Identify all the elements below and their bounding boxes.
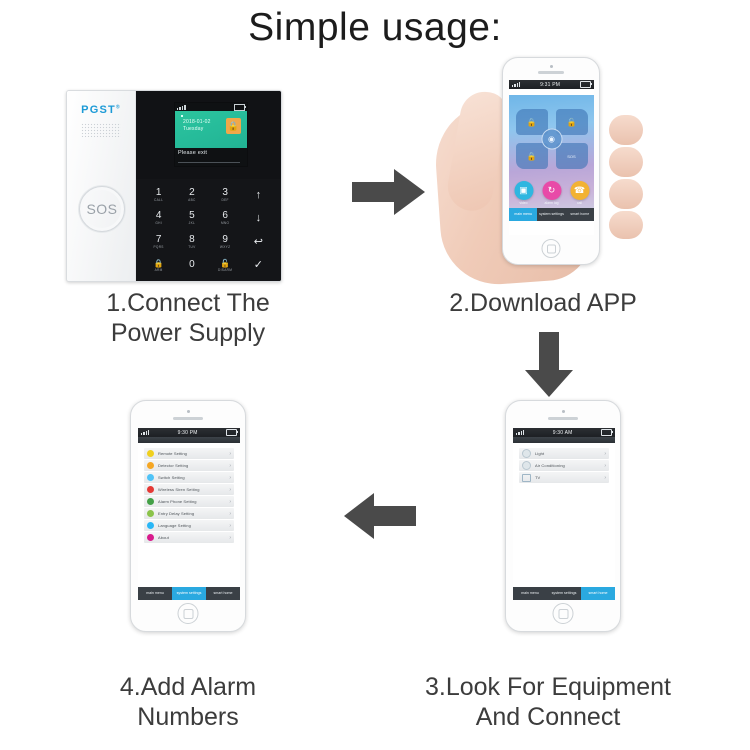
arrow-right-step1-to-step2 — [352, 167, 426, 217]
chevron-right-icon: › — [229, 463, 231, 469]
arrow-up-icon[interactable]: ↑ — [242, 183, 275, 207]
lcd-day: Tuesday — [183, 126, 203, 132]
siren-icon — [147, 486, 154, 493]
status-bar: 9:31 PM — [509, 80, 594, 89]
arrow-down-step2-to-step3 — [523, 332, 575, 398]
hand-finger-3 — [609, 179, 643, 209]
hand-finger-4 — [609, 211, 643, 239]
list-item[interactable]: Entry Delay Setting › — [144, 508, 234, 519]
step-2-caption: 2.Download APP — [378, 288, 708, 318]
list-item[interactable]: Air Conditioning › — [519, 460, 609, 471]
list-item-label: Detector Setting — [158, 463, 229, 468]
settings-list[interactable]: Remote Setting › Detector Setting › Swit… — [138, 443, 240, 586]
speaker-grille-icon — [81, 123, 121, 137]
status-time: 9:31 PM — [540, 82, 560, 88]
sos-button[interactable]: SOS — [79, 186, 125, 232]
lcd-message: Please exit — [178, 150, 207, 156]
list-item-label: Alarm Phone Setting — [158, 499, 229, 504]
key-5[interactable]: 5JKL — [175, 207, 208, 231]
brand-text: PGST — [81, 104, 116, 116]
status-bar: 9:30 PM — [138, 428, 240, 437]
battery-icon — [226, 429, 237, 436]
sos-button[interactable]: SOS — [556, 143, 588, 169]
phone-step4: 9:30 PM Remote Setting › Detector Settin… — [130, 400, 246, 632]
bottom-tabbar[interactable]: main menu system settings smart home — [513, 587, 615, 600]
list-item[interactable]: Switch Setting › — [144, 472, 234, 483]
key-0[interactable]: 0 — [175, 254, 208, 278]
key-4[interactable]: 4GHI — [142, 207, 175, 231]
disarm-button[interactable]: 🔓 — [556, 109, 588, 135]
call-action[interactable]: ☎ call — [570, 181, 589, 206]
earpiece-speaker — [538, 71, 564, 74]
globe-icon — [147, 522, 154, 529]
sos-label: SOS — [86, 201, 117, 217]
hand-holding-phone: 9:31 PM 🔒 🔓 🔒 SOS ◉ ▣ video — [430, 55, 645, 285]
hand-finger-1 — [609, 115, 643, 145]
home-button[interactable] — [542, 239, 561, 258]
list-item[interactable]: Wireless Siren Setting › — [144, 484, 234, 495]
chevron-right-icon: › — [604, 463, 606, 469]
disarm-unlock-icon[interactable]: 🔓DISARM — [209, 254, 242, 278]
battery-icon — [601, 429, 612, 436]
list-item-label: Language Setting — [158, 523, 229, 528]
video-icon: ▣ — [514, 181, 533, 200]
front-camera-icon — [187, 410, 190, 413]
tab-smart-home[interactable]: smart home — [566, 208, 594, 221]
chevron-right-icon: › — [604, 451, 606, 457]
detector-icon — [147, 462, 154, 469]
video-action[interactable]: ▣ video — [514, 181, 533, 206]
list-item-label: Air Conditioning — [535, 463, 604, 468]
list-item-label: Wireless Siren Setting — [158, 487, 229, 492]
phone-step2: 9:31 PM 🔒 🔓 🔒 SOS ◉ ▣ video — [502, 57, 600, 265]
lcd-body: 2018-01-02 Tuesday 🔒 — [175, 111, 247, 148]
battery-icon — [580, 81, 591, 88]
step-3-caption: 3.Look For Equipment And Connect — [378, 672, 718, 732]
bottom-tabbar[interactable]: main menu system settings smart home — [138, 587, 240, 600]
info-icon — [147, 534, 154, 541]
app-home-screen: 🔒 🔓 🔒 SOS ◉ ▣ video ↻ alarm log — [509, 95, 594, 221]
lcd-message-bar: Please exit — [175, 148, 247, 166]
earpiece-speaker — [173, 417, 203, 420]
bulb-icon — [522, 449, 531, 458]
key-3[interactable]: 3DEF — [209, 183, 242, 207]
page-title: Simple usage: — [0, 6, 750, 50]
chevron-right-icon: › — [229, 451, 231, 457]
home-button[interactable] — [553, 603, 574, 624]
phone-icon: ☎ — [570, 181, 589, 200]
key-7[interactable]: 7PQRS — [142, 230, 175, 254]
signal-icon — [512, 82, 520, 87]
signal-icon — [177, 105, 186, 110]
lcd-indicator-dot — [181, 115, 183, 117]
lcd-screen: 2018-01-02 Tuesday 🔒 Please exit — [174, 102, 248, 167]
phone-screen-step3: 9:30 AM Light › Air Conditioning › TV — [513, 428, 615, 600]
key-6[interactable]: 6MNO — [209, 207, 242, 231]
chevron-right-icon: › — [229, 475, 231, 481]
key-2[interactable]: 2ABC — [175, 183, 208, 207]
phone-screen-step2: 9:31 PM 🔒 🔓 🔒 SOS ◉ ▣ video — [509, 80, 594, 235]
brand-logo: PGST® — [67, 104, 135, 116]
clock-icon — [147, 510, 154, 517]
signal-icon — [141, 430, 149, 435]
earpiece-speaker — [548, 417, 578, 420]
bottom-tabbar[interactable]: main menu system settings smart home — [509, 208, 594, 221]
arm-control-pad[interactable]: 🔒 🔓 🔒 SOS ◉ — [516, 109, 588, 169]
list-item[interactable]: Light › — [519, 448, 609, 459]
tab-system-settings[interactable]: system settings — [537, 208, 565, 221]
list-item[interactable]: TV › — [519, 472, 609, 483]
shield-icon[interactable]: ◉ — [541, 129, 562, 150]
step-1-caption: 1.Connect The Power Supply — [38, 288, 338, 348]
list-item-label: Entry Delay Setting — [158, 511, 229, 516]
panel-front-right: 2018-01-02 Tuesday 🔒 Please exit 1CALL 2… — [136, 91, 281, 281]
back-icon[interactable]: ↩ — [242, 230, 275, 254]
list-item-label: TV — [535, 475, 604, 480]
arm-lock-icon[interactable]: 🔒ARM — [142, 254, 175, 278]
hand-finger-2 — [609, 147, 643, 177]
switch-icon — [147, 474, 154, 481]
phone-screen-step4: 9:30 PM Remote Setting › Detector Settin… — [138, 428, 240, 600]
alarm-panel-device: PGST® SOS 2018-01-02 Tuesday 🔒 — [66, 90, 282, 282]
tab-smart-home[interactable]: smart home — [206, 587, 240, 600]
phone-step3: 9:30 AM Light › Air Conditioning › TV — [505, 400, 621, 632]
call-label: call — [577, 201, 582, 205]
tab-system-settings[interactable]: system settings — [172, 587, 206, 600]
keypad[interactable]: 1CALL 2ABC 3DEF ↑ 4GHI 5JKL 6MNO ↓ 7PQRS… — [136, 179, 281, 281]
infographic-root: Simple usage: PGST® SOS 2018-01-02 — [0, 0, 750, 750]
list-item[interactable]: About › — [144, 532, 234, 543]
lcd-progress-line — [178, 162, 240, 163]
remote-icon — [147, 450, 154, 457]
step-4-caption: 4.Add Alarm Numbers — [38, 672, 338, 732]
chevron-right-icon: › — [229, 523, 231, 529]
quick-action-row[interactable]: ▣ video ↻ alarm log ☎ call — [514, 181, 589, 206]
lcd-statusbar — [175, 103, 247, 111]
tab-main-menu[interactable]: main menu — [513, 587, 547, 600]
front-camera-icon — [562, 410, 565, 413]
battery-icon — [234, 104, 245, 111]
phone-icon — [147, 498, 154, 505]
chevron-right-icon: › — [229, 499, 231, 505]
log-icon: ↻ — [542, 181, 561, 200]
ac-icon — [522, 461, 531, 470]
confirm-check-icon[interactable]: ✓ — [242, 254, 275, 278]
tab-main-menu[interactable]: main menu — [509, 208, 537, 221]
status-time: 9:30 PM — [178, 430, 198, 436]
tv-icon — [522, 474, 531, 482]
list-item[interactable]: Language Setting › — [144, 520, 234, 531]
video-label: video — [519, 201, 527, 205]
lcd-date: 2018-01-02 — [183, 119, 211, 126]
list-item[interactable]: Remote Setting › — [144, 448, 234, 459]
smart-home-device-list[interactable]: Light › Air Conditioning › TV › — [513, 443, 615, 586]
signal-icon — [516, 430, 524, 435]
key-8[interactable]: 8TUV — [175, 230, 208, 254]
list-item[interactable]: Alarm Phone Setting › — [144, 496, 234, 507]
list-item[interactable]: Detector Setting › — [144, 460, 234, 471]
tab-smart-home[interactable]: smart home — [581, 587, 615, 600]
alarm-log-label: alarm log — [545, 201, 559, 205]
arrow-down-icon[interactable]: ↓ — [242, 207, 275, 231]
panel-front-left: PGST® SOS — [67, 91, 136, 281]
key-1[interactable]: 1CALL — [142, 183, 175, 207]
list-item-label: Switch Setting — [158, 475, 229, 480]
status-time: 9:30 AM — [553, 430, 573, 436]
arrow-left-step3-to-step4 — [343, 490, 417, 542]
list-item-label: Light — [535, 451, 604, 456]
alarm-log-action[interactable]: ↻ alarm log — [542, 181, 561, 206]
tab-system-settings[interactable]: system settings — [547, 587, 581, 600]
home-button[interactable] — [178, 603, 199, 624]
chevron-right-icon: › — [604, 475, 606, 481]
lock-icon: 🔒 — [226, 118, 241, 134]
front-camera-icon — [550, 65, 553, 68]
status-bar: 9:30 AM — [513, 428, 615, 437]
list-item-label: About — [158, 535, 229, 540]
list-item-label: Remote Setting — [158, 451, 229, 456]
key-9[interactable]: 9WXYZ — [209, 230, 242, 254]
chevron-right-icon: › — [229, 535, 231, 541]
home-arm-button[interactable]: 🔒 — [516, 143, 548, 169]
chevron-right-icon: › — [229, 487, 231, 493]
chevron-right-icon: › — [229, 511, 231, 517]
lcd-bezel: 2018-01-02 Tuesday 🔒 Please exit — [136, 91, 281, 179]
tab-main-menu[interactable]: main menu — [138, 587, 172, 600]
